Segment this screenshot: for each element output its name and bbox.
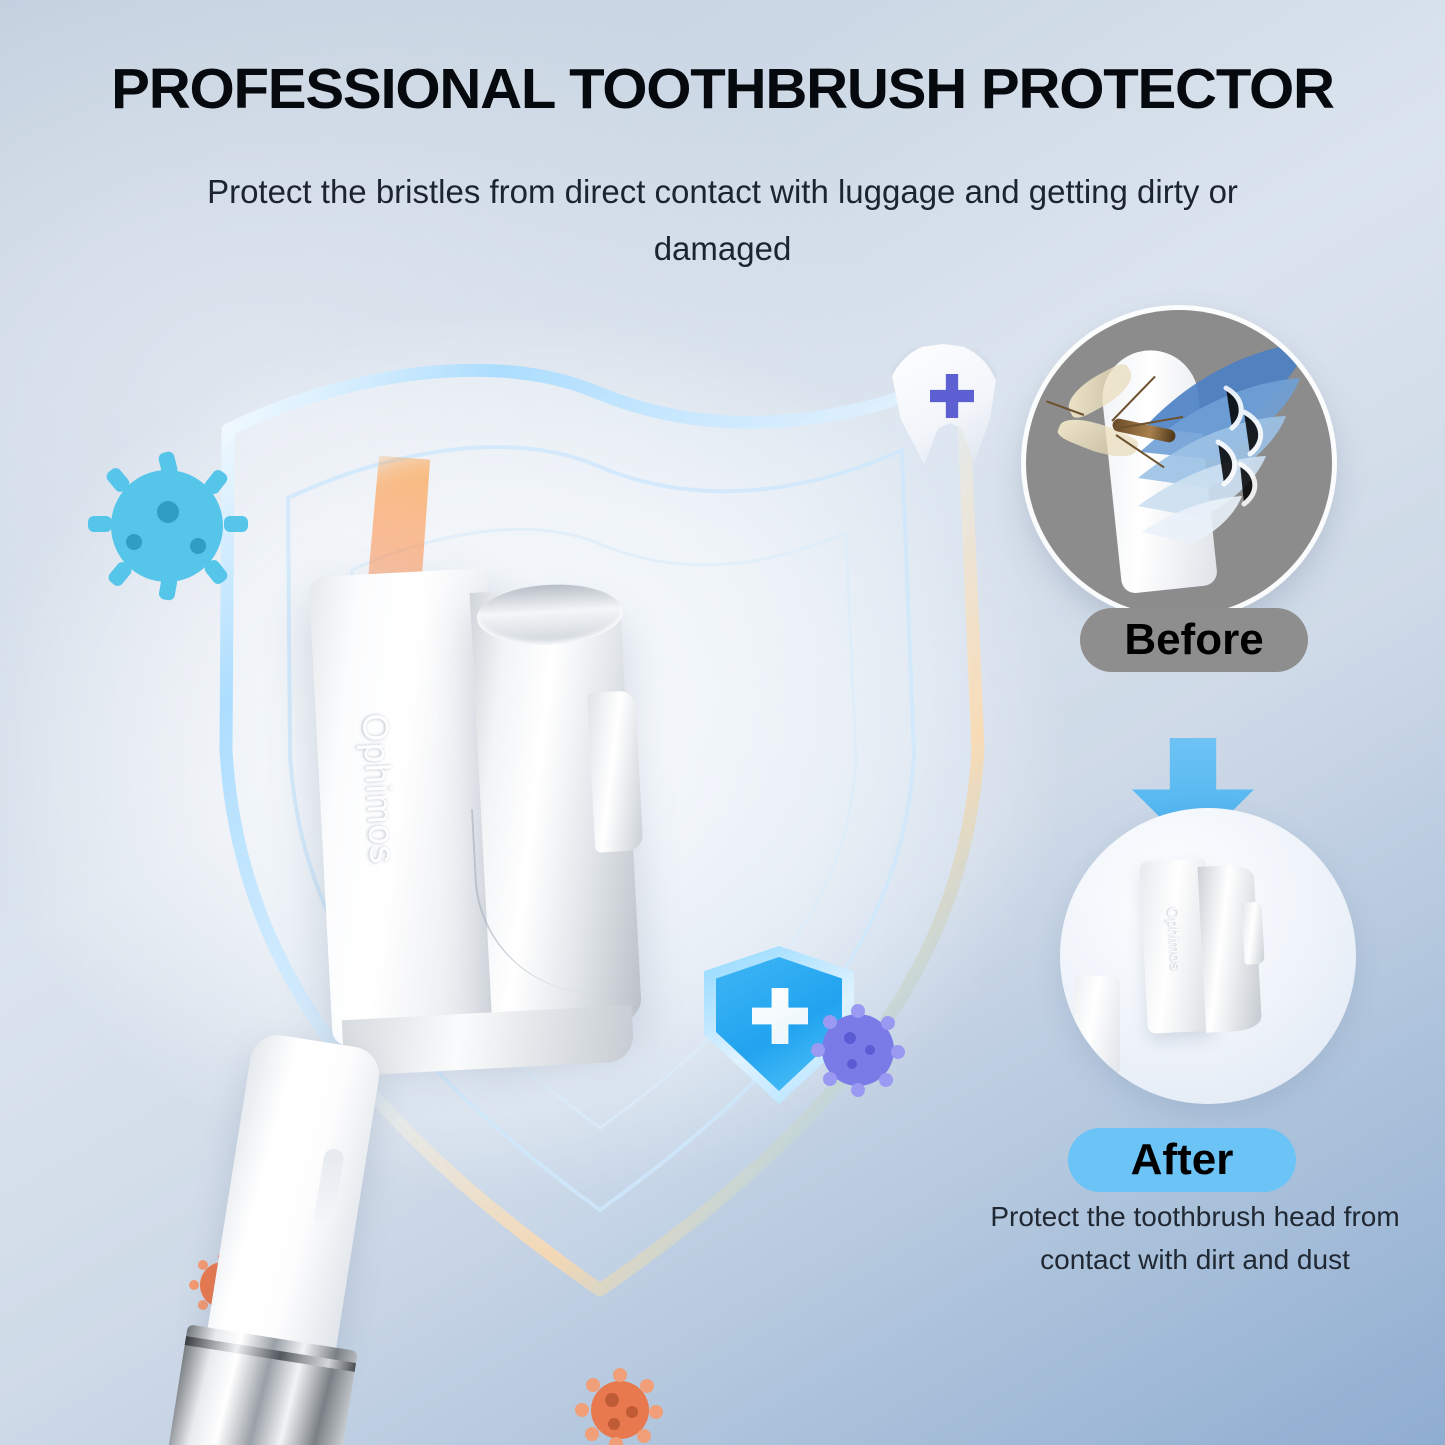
after-caption: Protect the toothbrush head from contact… bbox=[960, 1196, 1430, 1281]
toothbrush-handle bbox=[133, 1022, 424, 1445]
germ-purple-icon bbox=[806, 998, 910, 1102]
mini-side-clip bbox=[1241, 902, 1264, 965]
tooth-body bbox=[884, 344, 1002, 464]
toothbrush-protector-product: Ophimos bbox=[309, 555, 756, 1100]
before-photo-circle bbox=[1026, 310, 1332, 616]
germ-orange-large-icon bbox=[572, 1366, 684, 1445]
handle-body bbox=[205, 1031, 383, 1367]
tooth-icon bbox=[884, 344, 1002, 464]
after-badge: After bbox=[1068, 1128, 1296, 1192]
product-marketing-image: PROFESSIONAL TOOTHBRUSH PROTECTOR Protec… bbox=[0, 0, 1445, 1445]
after-brush-handle bbox=[1074, 976, 1120, 1074]
mosquito-icon bbox=[1054, 368, 1194, 488]
after-mini-protector: Ophimos bbox=[1139, 854, 1299, 1052]
after-photo-circle: Ophimos bbox=[1060, 808, 1356, 1104]
page-title: PROFESSIONAL TOOTHBRUSH PROTECTOR bbox=[0, 56, 1445, 122]
page-subtitle: Protect the bristles from direct contact… bbox=[140, 164, 1305, 278]
before-badge: Before bbox=[1080, 608, 1308, 672]
germ-cyan-icon bbox=[72, 430, 262, 620]
